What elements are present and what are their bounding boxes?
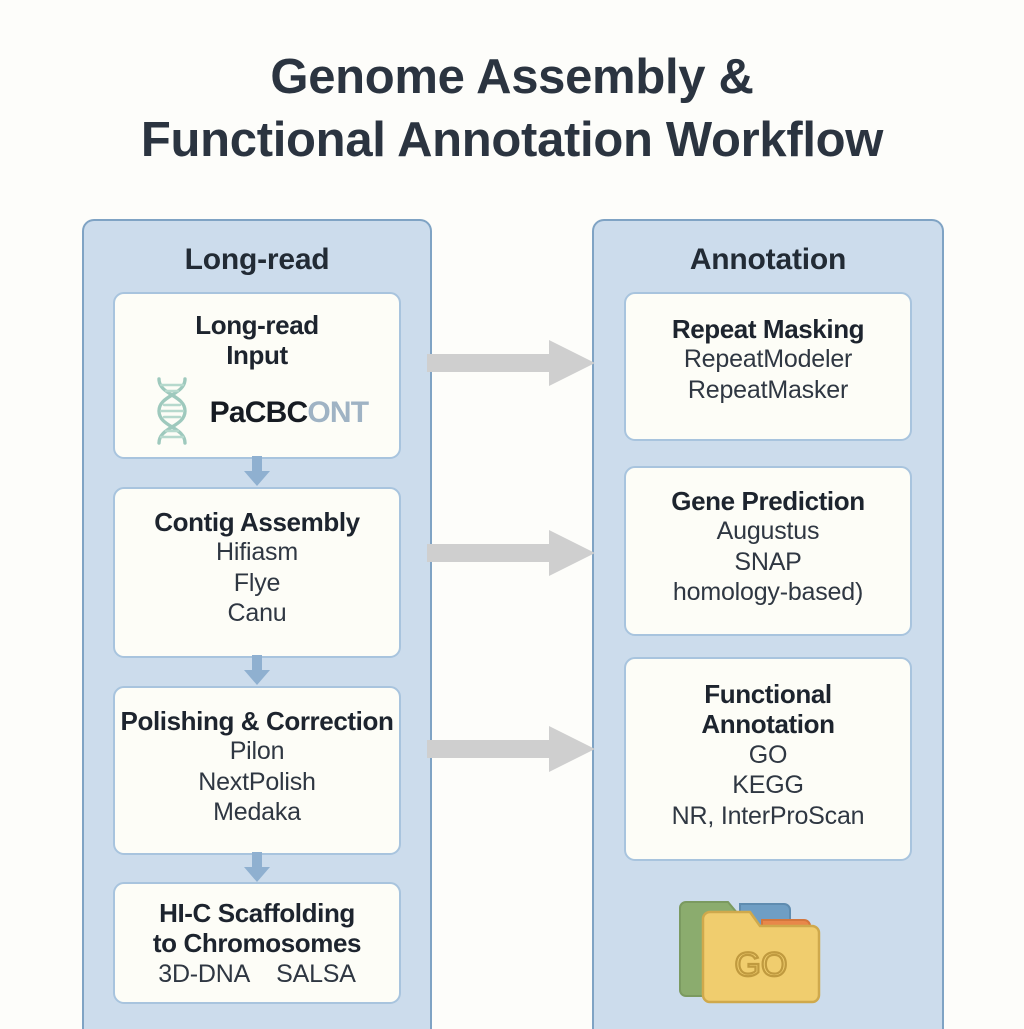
card-title: Repeat Masking [626, 314, 910, 344]
step-card-long-read-input[interactable]: Long-read Input PaCBCONT [113, 292, 401, 459]
column-header-annotation: Annotation [594, 243, 942, 277]
tool-name: NextPolish [115, 767, 399, 798]
card-title-line-1: Long-read [115, 310, 399, 340]
tool-name: Flye [115, 568, 399, 599]
card-title-line-2: to Chromosomes [115, 928, 399, 958]
card-title: Contig Assembly [115, 507, 399, 537]
platform-logo-ont: ONT [307, 396, 368, 429]
tool-name: homology-based) [626, 577, 910, 608]
card-title: Gene Prediction [626, 486, 910, 516]
tool-name: Medaka [115, 797, 399, 828]
tool-name: RepeatMasker [626, 375, 910, 406]
tool-name: 3D-DNA [158, 959, 250, 990]
cross-arrow-right-icon [427, 726, 595, 772]
card-title-line-2: Annotation [626, 709, 910, 739]
tool-row: 3D-DNA SALSA [115, 959, 399, 990]
card-title-line-1: HI-C Scaffolding [115, 898, 399, 928]
tool-name: NR, InterProScan [626, 801, 910, 832]
long-read-platform-row: PaCBCONT [115, 375, 399, 451]
tool-name: Canu [115, 598, 399, 629]
page-title-line-2: Functional Annotation Workflow [0, 109, 1024, 172]
tool-name: KEGG [626, 770, 910, 801]
tool-name: SALSA [276, 959, 356, 990]
step-card-polishing-correction[interactable]: Polishing & Correction Pilon NextPolish … [113, 686, 401, 855]
tool-name: SNAP [626, 547, 910, 578]
flow-arrow-down-icon [244, 655, 270, 685]
step-card-gene-prediction[interactable]: Gene Prediction Augustus SNAP homology-b… [624, 466, 912, 636]
flow-arrow-down-icon [244, 852, 270, 882]
card-title-line-2: Input [115, 340, 399, 370]
tool-name: GO [626, 740, 910, 771]
cross-arrow-right-icon [427, 530, 595, 576]
flow-arrow-down-icon [244, 456, 270, 486]
column-header-long-read: Long-read [84, 243, 430, 277]
folder-stack-go-icon: GO [678, 890, 838, 1015]
card-title-line-1: Functional [626, 679, 910, 709]
page-title: Genome Assembly & Functional Annotation … [0, 46, 1024, 171]
step-card-repeat-masking[interactable]: Repeat Masking RepeatModeler RepeatMaske… [624, 292, 912, 441]
platform-logo-pacbio: PaCBC [210, 396, 308, 429]
tool-name: Hifiasm [115, 537, 399, 568]
card-title: Polishing & Correction [115, 706, 399, 736]
step-card-functional-annotation[interactable]: Functional Annotation GO KEGG NR, InterP… [624, 657, 912, 861]
folder-label-go: GO [735, 946, 788, 984]
page-title-line-1: Genome Assembly & [0, 46, 1024, 109]
tool-name: Augustus [626, 516, 910, 547]
dna-helix-icon [146, 375, 198, 451]
cross-arrow-right-icon [427, 340, 595, 386]
step-card-contig-assembly[interactable]: Contig Assembly Hifiasm Flye Canu [113, 487, 401, 658]
step-card-hic-scaffolding[interactable]: HI-C Scaffolding to Chromosomes 3D-DNA S… [113, 882, 401, 1004]
sequencing-platform-logo: PaCBCONT [210, 396, 369, 430]
tool-name: RepeatModeler [626, 344, 910, 375]
tool-name: Pilon [115, 736, 399, 767]
